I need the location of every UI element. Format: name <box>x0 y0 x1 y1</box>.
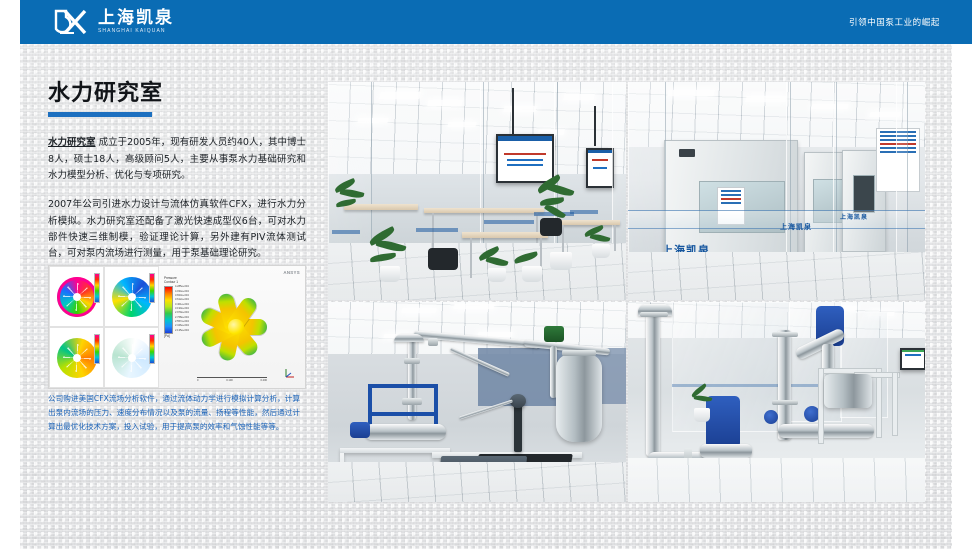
wall-display-secondary <box>586 148 614 188</box>
glass-brand-logo-small: 上海凯泉 <box>840 212 868 221</box>
pump-motor <box>350 422 370 438</box>
clear-test-chamber <box>824 374 872 408</box>
page-title: 水力研究室 <box>48 82 306 106</box>
glass-brand-logo-small: 上海凯泉 <box>780 222 812 232</box>
legend-tick: 3.401e+004 <box>175 304 189 307</box>
valve-handwheel-1 <box>764 410 778 424</box>
scale-bar: 0 0.100 0.200 <box>197 377 267 382</box>
paragraph-2: 2007年公司引进水力设计与流体仿真软件CFX，进行水力分析模拟。水力研究室还配… <box>48 197 306 262</box>
scale-tick: 0.200 <box>260 379 267 382</box>
colorbar-icon <box>149 334 155 364</box>
brand-name-en: SHANGHAI KAIQUAN <box>98 29 174 34</box>
legend-subtitle: Contour 1 <box>164 280 198 284</box>
paragraph-1-lead: 水力研究室 <box>48 137 96 148</box>
brand-logo[interactable]: 上海凯泉 SHANGHAI KAIQUAN <box>52 6 174 38</box>
vertical-pipe <box>408 340 416 420</box>
photo-open-plan-research-office <box>328 82 626 300</box>
impeller-contour-plot-icon <box>57 277 97 317</box>
impeller-contour-plot-icon <box>57 338 97 378</box>
brand-wordmark: 上海凯泉 SHANGHAI KAIQUAN <box>98 10 174 34</box>
legend-tick: 3.612e+004 <box>175 299 189 302</box>
axis-triad-icon <box>283 366 297 380</box>
colorbar-icon <box>149 273 155 303</box>
cfd-thumb-4 <box>104 327 159 388</box>
cfd-thumb-3 <box>49 327 104 388</box>
green-gear-motor <box>544 326 564 342</box>
cfd-figure-caption: 公司购进美国CFX流场分析软件，通过流体动力学进行模拟计算分析，计算出泵内流场的… <box>48 392 300 434</box>
pressure-legend: Pressure Contour 1 4.285e+004 4.034e+004… <box>164 276 198 338</box>
photo-piv-fluid-test-bench <box>328 302 626 502</box>
photo-grid: 上海凯泉 上海凯泉 上海凯泉 <box>328 82 925 502</box>
discharge-header <box>778 424 874 438</box>
legend-tick: 2.768e+004 <box>175 317 189 320</box>
header-slogan: 引领中国泵工业的崛起 <box>849 0 940 44</box>
office-floor <box>328 243 626 300</box>
cfd-simulation-figure: ANSYS Pressure Contour 1 4.285e+004 4.03… <box>48 265 306 389</box>
legend-color-swatch <box>164 286 173 334</box>
riser-pipe-left <box>646 306 660 456</box>
legend-tick: 2.979e+004 <box>175 312 189 315</box>
kaiquan-kx-monogram-icon <box>52 7 92 37</box>
cfd-3d-impeller-view: ANSYS Pressure Contour 1 4.285e+004 4.03… <box>159 266 305 388</box>
slide-root: 上海凯泉 SHANGHAI KAIQUAN 引领中国泵工业的崛起 水力研究室 水… <box>0 0 972 549</box>
paragraph-1: 水力研究室 成立于2005年，现有研发人员约40人，其中博士8人，硕士18人，高… <box>48 135 306 184</box>
rig-floor <box>628 458 925 502</box>
scale-tick: 0.100 <box>226 379 233 382</box>
legend-tick: 4.034e+004 <box>175 291 189 294</box>
left-text-column: 水力研究室 水力研究室 成立于2005年，现有研发人员约40人，其中博士8人，硕… <box>48 82 306 275</box>
colorbar-icon <box>94 273 100 303</box>
wall-display-main <box>496 134 554 183</box>
legend-tick-labels: 4.285e+004 4.034e+004 3.823e+004 3.612e+… <box>175 286 189 332</box>
header-bar: 上海凯泉 SHANGHAI KAIQUAN 引领中国泵工业的崛起 <box>20 0 972 44</box>
legend-tick: 2.135e+004 <box>175 330 189 333</box>
pressure-tank <box>556 354 602 442</box>
impeller-3d-model <box>194 285 278 369</box>
impeller-contour-plot-icon <box>112 338 152 378</box>
impeller-contour-plot-icon <box>112 277 152 317</box>
scale-tick: 0 <box>197 379 198 382</box>
photo-laser-rapid-prototyping-machines: 上海凯泉 上海凯泉 上海凯泉 <box>628 82 925 300</box>
cfd-thumbnail-grid <box>49 266 159 388</box>
legend-tick: 4.285e+004 <box>175 286 189 289</box>
title-underline-rule <box>48 112 152 117</box>
legend-unit-label: [Pa] <box>164 334 198 338</box>
brand-name-cn: 上海凯泉 <box>98 10 174 27</box>
test-pump-body <box>364 424 446 440</box>
vertical-pump-motor-1 <box>706 396 740 448</box>
colorbar-icon <box>94 334 100 364</box>
rig-monitor <box>900 348 925 370</box>
legend-tick: 2.346e+004 <box>175 325 189 328</box>
photo-pump-performance-test-rig <box>628 302 925 502</box>
